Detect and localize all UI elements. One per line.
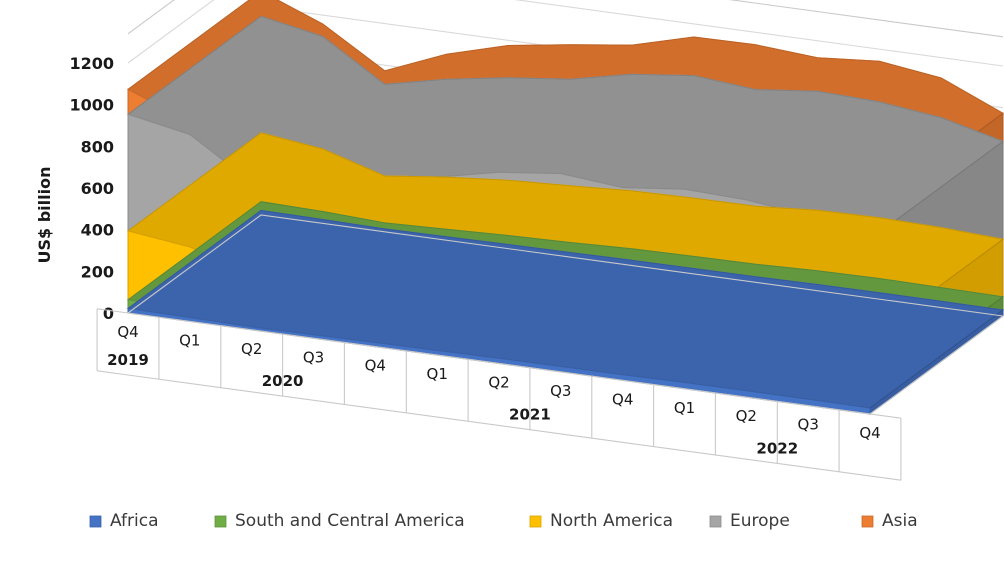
legend-item-africa[interactable]: Africa	[90, 511, 159, 531]
legend-item-asia[interactable]: Asia	[862, 511, 918, 531]
legend-label-1: South and Central America	[235, 511, 465, 531]
category-label-7: Q3	[550, 382, 571, 400]
legend-label-3: Europe	[730, 511, 790, 531]
category-label-11: Q3	[798, 416, 819, 434]
category-label-3: Q3	[303, 348, 324, 366]
legend-item-europe[interactable]: Europe	[710, 511, 790, 531]
legend-swatch-3	[710, 516, 721, 527]
y-axis-title: US$ billion	[35, 167, 54, 264]
category-label-2: Q2	[241, 340, 262, 358]
y-tick-label-600: 600	[81, 179, 114, 198]
category-label-1: Q1	[179, 331, 200, 349]
legend-label-4: Asia	[882, 511, 918, 531]
category-label-8: Q4	[612, 390, 633, 408]
legend-item-north-america[interactable]: North America	[530, 511, 673, 531]
year-label-2020: 2020	[262, 372, 304, 390]
category-label-6: Q2	[488, 374, 509, 392]
y-tick-label-1200: 1200	[69, 54, 114, 73]
y-axis-ticks: 120010008006004002000	[69, 54, 114, 323]
year-label-2021: 2021	[509, 406, 551, 424]
legend-swatch-4	[862, 516, 873, 527]
y-tick-label-0: 0	[103, 304, 114, 323]
y-tick-label-200: 200	[81, 262, 114, 281]
legend-swatch-2	[530, 516, 541, 527]
legend-swatch-0	[90, 516, 101, 527]
legend-swatch-1	[215, 516, 226, 527]
category-label-5: Q1	[427, 365, 448, 383]
year-label-2022: 2022	[756, 439, 798, 457]
y-axis-title-group: US$ billion	[35, 167, 54, 264]
y-tick-label-800: 800	[81, 137, 114, 156]
category-label-12: Q4	[859, 424, 880, 442]
category-label-4: Q4	[365, 357, 386, 375]
category-label-10: Q2	[736, 407, 757, 425]
y-tick-label-400: 400	[81, 221, 114, 240]
legend-label-2: North America	[550, 511, 673, 531]
category-label-0: Q4	[117, 323, 138, 341]
y-tick-label-1000: 1000	[69, 96, 114, 115]
category-label-9: Q1	[674, 399, 695, 417]
year-label-2019: 2019	[107, 351, 149, 369]
stacked-area-chart-3d: 120010008006004002000 Q4Q1Q2Q3Q4Q1Q2Q3Q4…	[0, 0, 1004, 565]
legend-item-south-and-central-america[interactable]: South and Central America	[215, 511, 465, 531]
chart-container: 120010008006004002000 Q4Q1Q2Q3Q4Q1Q2Q3Q4…	[0, 0, 1004, 565]
chart-legend: AfricaSouth and Central AmericaNorth Ame…	[90, 511, 918, 531]
legend-label-0: Africa	[110, 511, 159, 531]
